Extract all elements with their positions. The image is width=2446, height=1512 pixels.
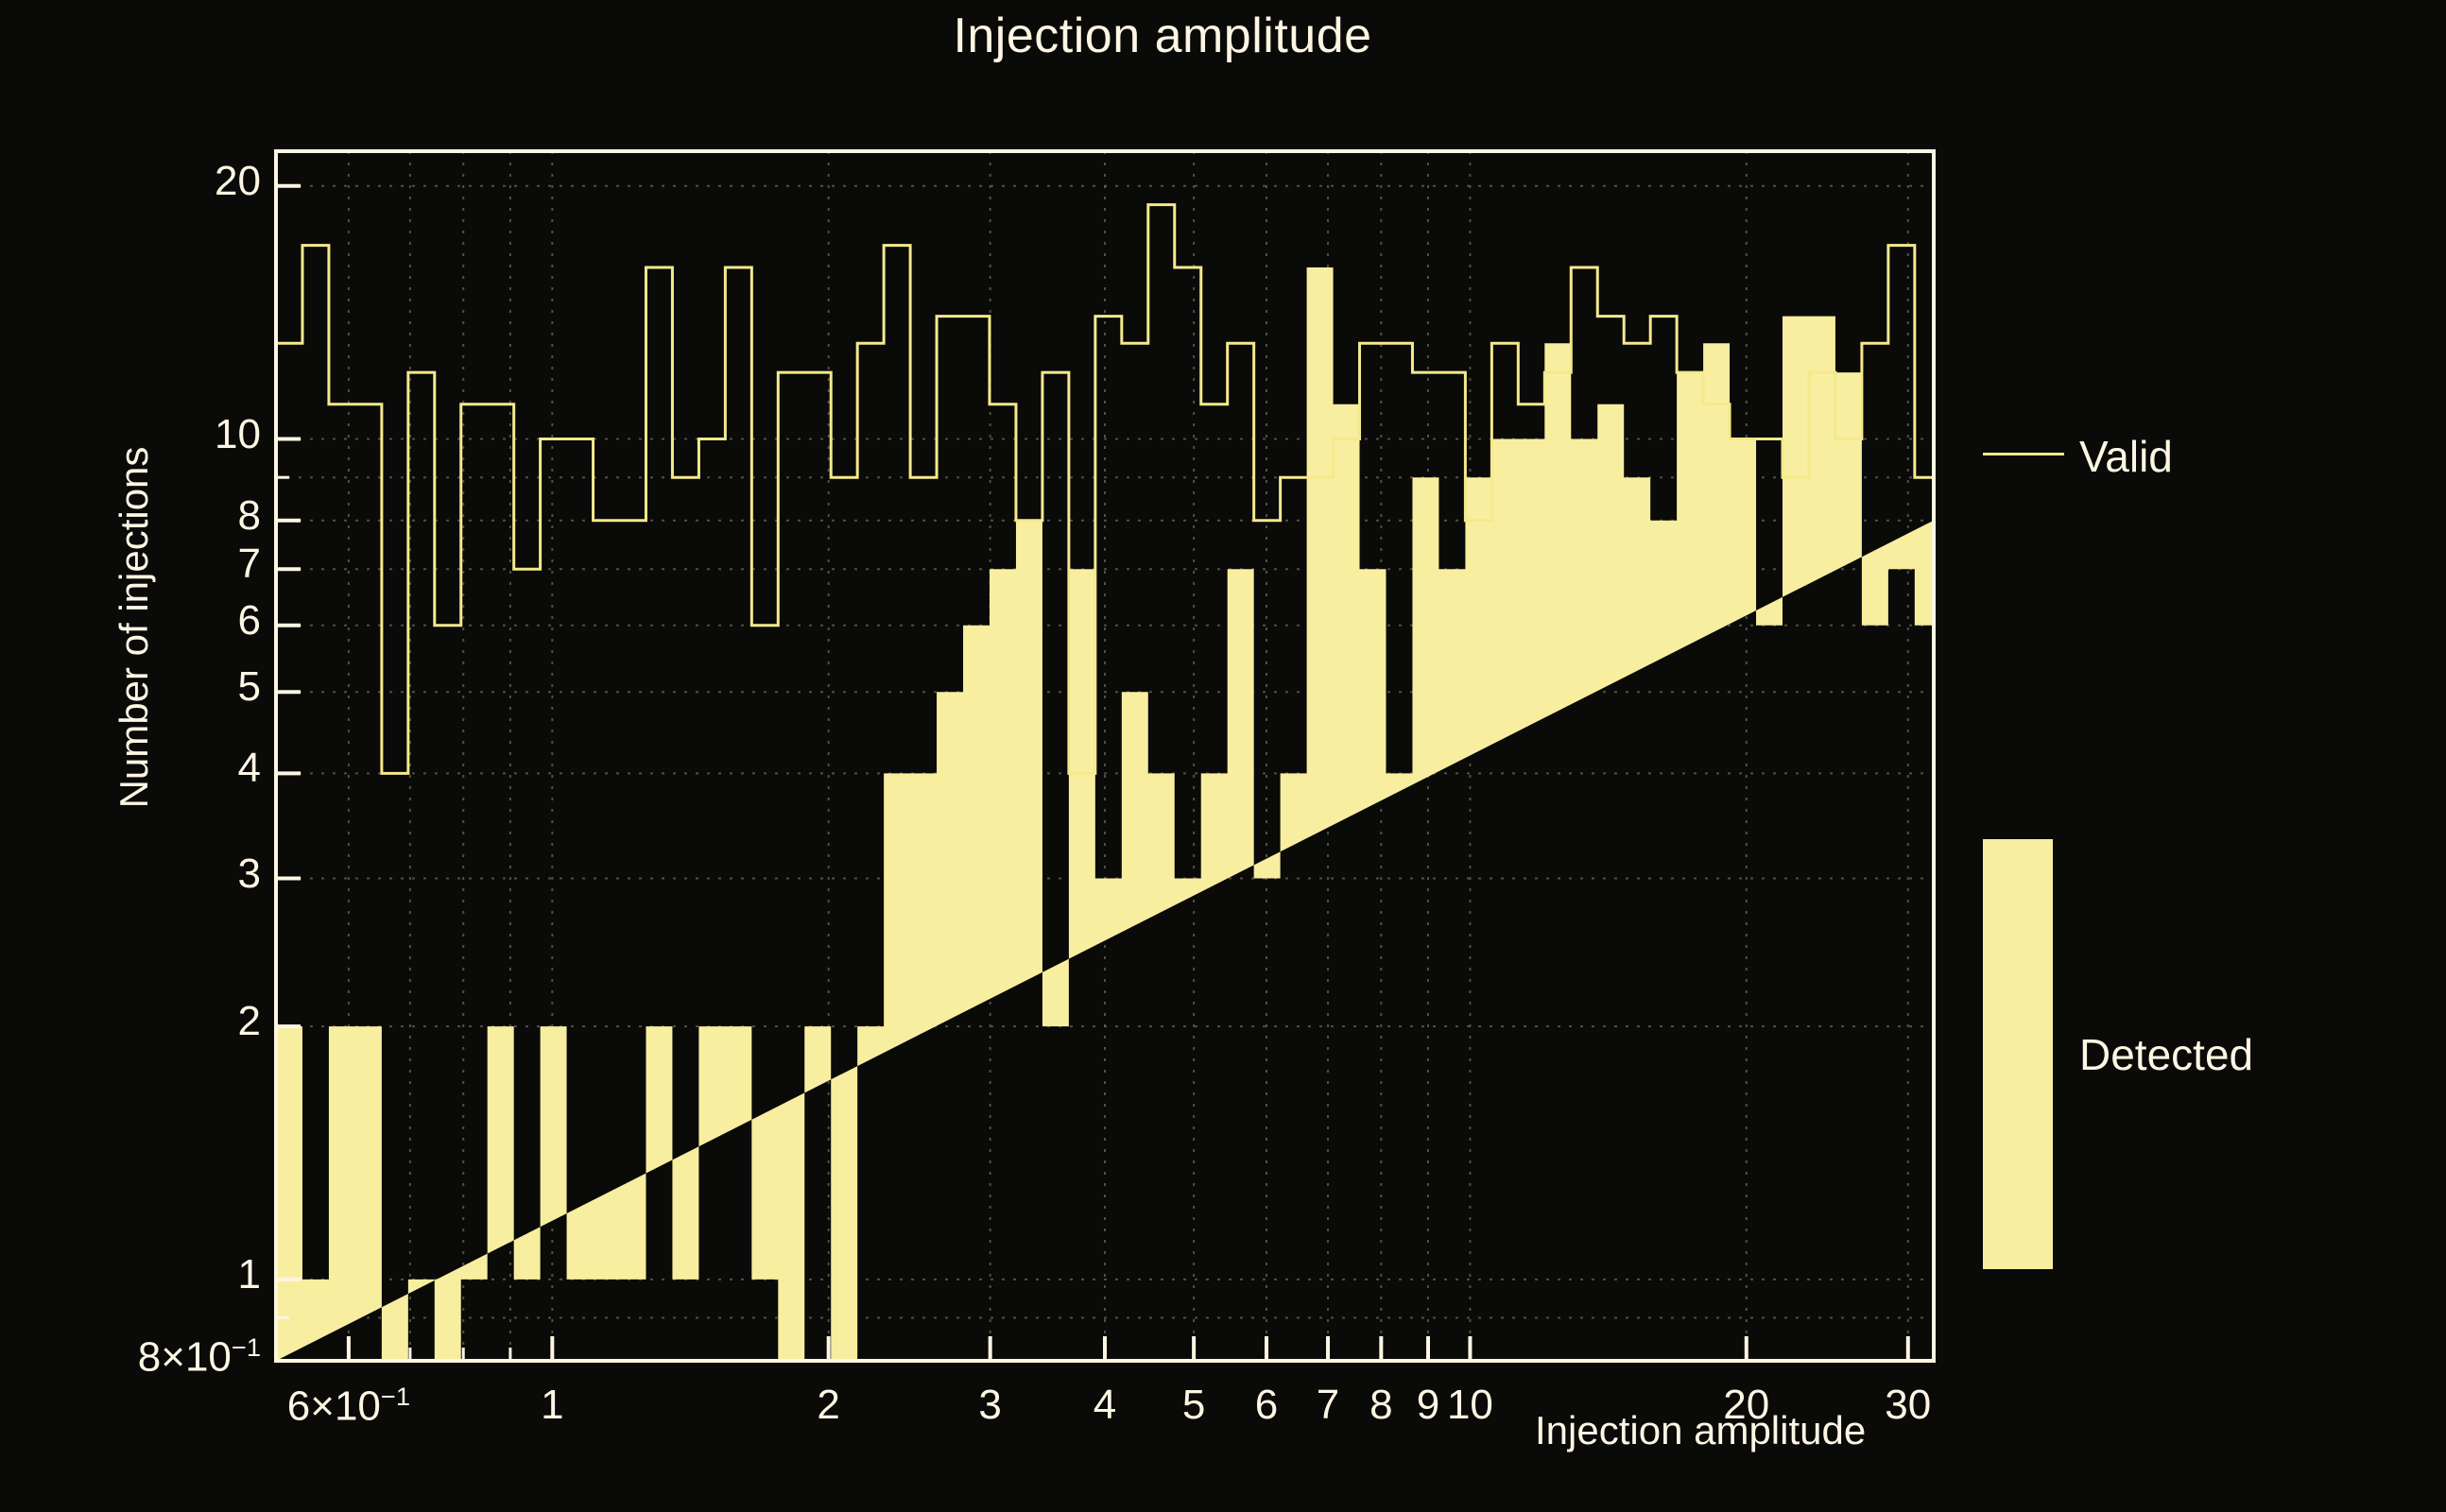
y-tick-label: 20 — [215, 158, 261, 205]
y-tick-label: 7 — [238, 541, 261, 588]
y-axis-label: Number of injections — [112, 382, 157, 873]
y-tick-label: 6 — [238, 597, 261, 644]
chart-root: Injection amplitude Number of injections… — [0, 0, 2446, 1512]
y-tick-label: 5 — [238, 663, 261, 711]
y-tick-label: 2 — [238, 998, 261, 1045]
legend-valid-line-icon — [1983, 453, 2064, 455]
legend-valid-label: Valid — [2079, 431, 2173, 482]
legend-detected-swatch-icon — [1983, 839, 2053, 1269]
x-tick-label: 10 — [1356, 1382, 1583, 1429]
x-tick-label: 30 — [1795, 1382, 2022, 1429]
x-tick-label: 6×10−1 — [235, 1382, 462, 1431]
x-tick-label: 1 — [439, 1382, 665, 1429]
y-tick-label: 8×10−1 — [138, 1332, 261, 1382]
y-tick-label: 10 — [215, 411, 261, 458]
y-tick-label: 4 — [238, 745, 261, 792]
y-tick-label: 1 — [238, 1251, 261, 1298]
plot-area — [0, 0, 2446, 1512]
y-tick-label: 3 — [238, 850, 261, 898]
legend-detected-label: Detected — [2079, 1029, 2253, 1080]
grid-lines — [276, 151, 1934, 1361]
y-tick-label: 8 — [238, 492, 261, 540]
